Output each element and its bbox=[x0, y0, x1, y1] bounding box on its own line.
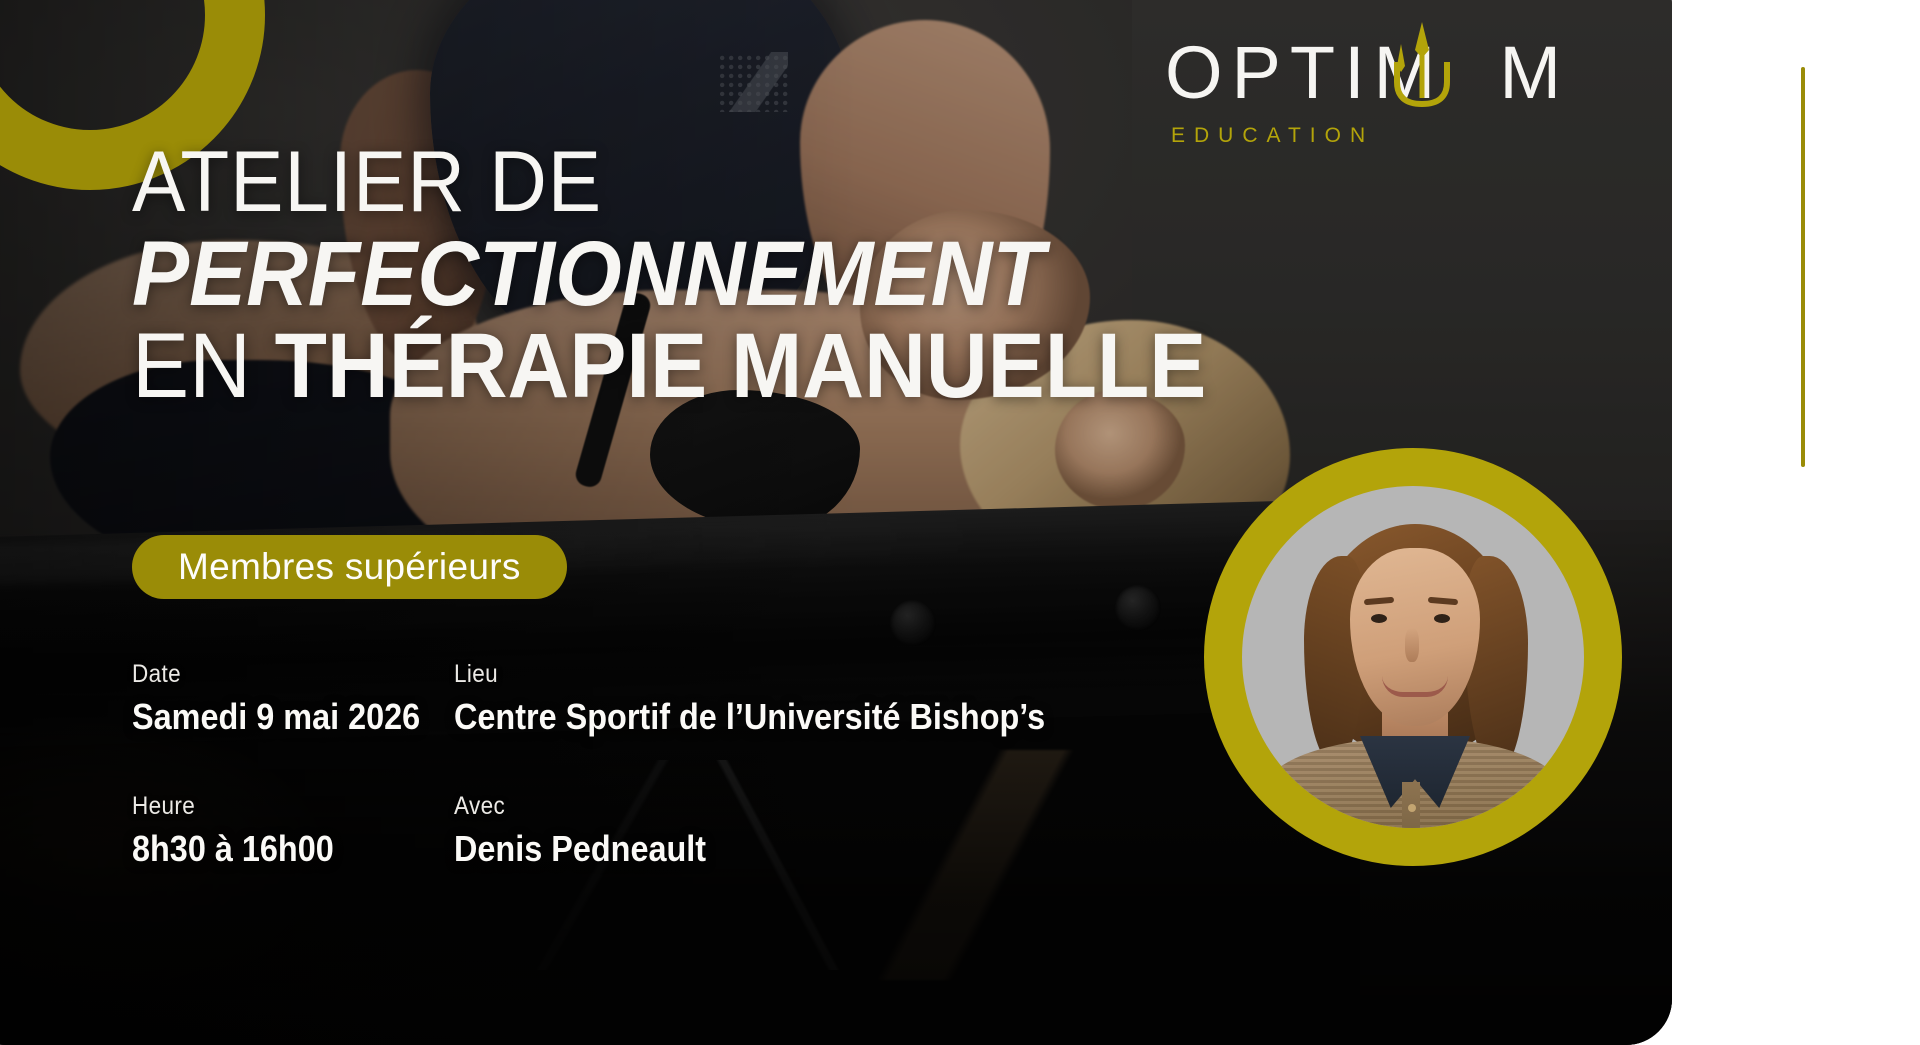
trident-icon bbox=[1389, 20, 1455, 130]
detail-label: Avec bbox=[454, 792, 1138, 821]
detail-heure: Heure 8h30 à 16h00 bbox=[132, 792, 454, 870]
page-title: ATELIER DE PERFECTIONNEMENT EN THÉRAPIE … bbox=[132, 142, 1452, 410]
detail-lieu: Lieu Centre Sportif de l’Université Bish… bbox=[454, 660, 1214, 738]
detail-value: Samedi 9 mai 2026 bbox=[132, 696, 422, 738]
headline-line-3: EN THÉRAPIE MANUELLE bbox=[132, 323, 1360, 409]
poster-stage: OPTIMM EDUCATION ATELIER DE PERFECTIONNE… bbox=[0, 0, 1920, 1005]
detail-label: Lieu bbox=[454, 660, 1138, 689]
avatar-button bbox=[1408, 804, 1416, 812]
detail-value: Centre Sportif de l’Université Bishop’s bbox=[454, 696, 1138, 738]
detail-label: Date bbox=[132, 660, 422, 689]
status-badge: Membres supérieurs bbox=[132, 535, 567, 599]
event-details: Date Samedi 9 mai 2026 Lieu Centre Sport… bbox=[132, 660, 1232, 870]
details-row: Heure 8h30 à 16h00 Avec Denis Pedneault bbox=[132, 792, 1232, 870]
avatar-nose bbox=[1405, 628, 1419, 662]
detail-label: Heure bbox=[132, 792, 422, 821]
avatar-eye-left bbox=[1371, 614, 1387, 623]
optimum-logo: OPTIMM EDUCATION bbox=[1165, 36, 1585, 156]
headline-line-3-light: EN bbox=[132, 315, 275, 417]
detail-value: 8h30 à 16h00 bbox=[132, 828, 422, 870]
badge-label: Membres supérieurs bbox=[178, 546, 521, 588]
headline-line-3-bold: THÉRAPIE MANUELLE bbox=[275, 315, 1207, 417]
logo-wordmark: OPTIMM bbox=[1165, 36, 1585, 110]
avatar-eye-right bbox=[1434, 614, 1450, 623]
detail-date: Date Samedi 9 mai 2026 bbox=[132, 660, 454, 738]
headline-line-2: PERFECTIONNEMENT bbox=[132, 231, 1360, 317]
avatar bbox=[1204, 448, 1622, 866]
avatar-photo bbox=[1242, 486, 1584, 828]
headline-line-1: ATELIER DE bbox=[132, 142, 1360, 223]
logo-word-part-2: M bbox=[1499, 31, 1570, 114]
detail-value: Denis Pedneault bbox=[454, 828, 1138, 870]
gold-vertical-rule bbox=[1801, 67, 1805, 467]
detail-avec: Avec Denis Pedneault bbox=[454, 792, 1214, 870]
details-row: Date Samedi 9 mai 2026 Lieu Centre Sport… bbox=[132, 660, 1232, 738]
